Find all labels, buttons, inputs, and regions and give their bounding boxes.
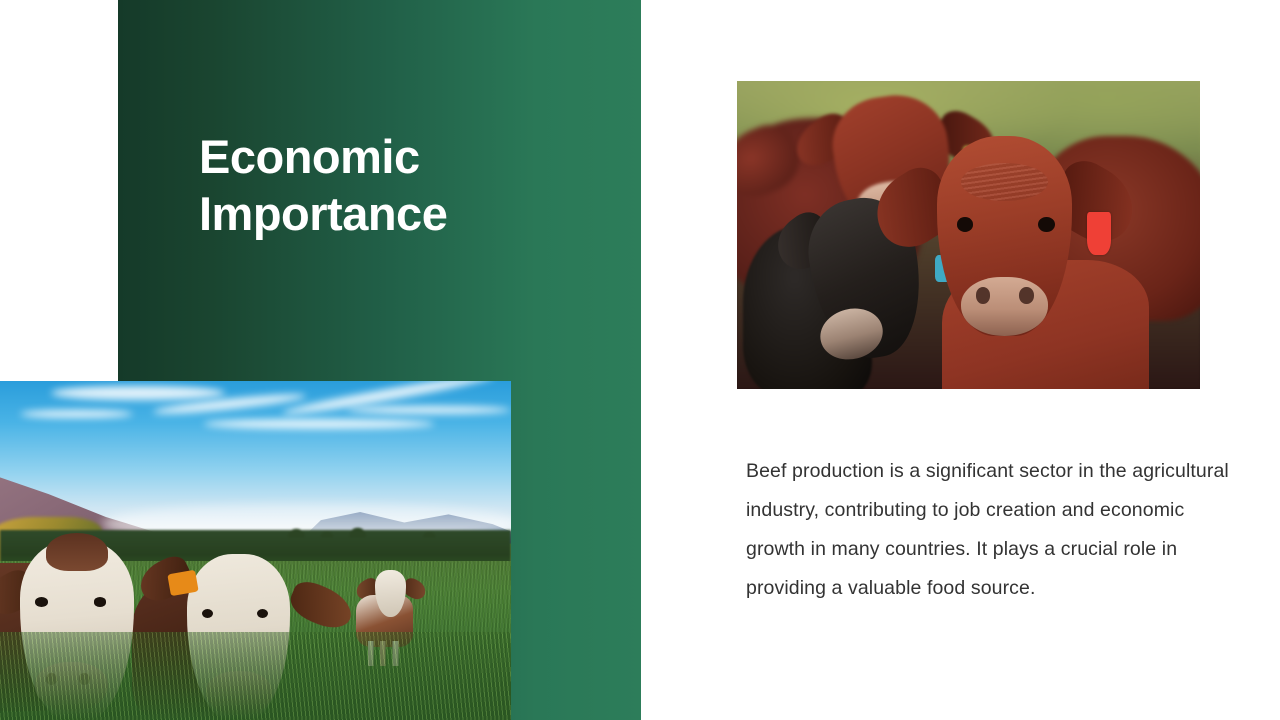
herd-photo [737,81,1200,389]
body-paragraph: Beef production is a significant sector … [746,452,1230,608]
title-line-1: Economic [199,128,629,185]
eye-left [35,597,48,606]
cloud [347,406,511,414]
title-line-2: Importance [199,185,629,242]
foreground-grass [0,632,511,720]
poll [46,533,109,571]
red-ear-tag [1087,212,1111,255]
cloud [51,386,225,400]
foreground-red-cow [904,130,1145,389]
eye-left [957,217,974,232]
slide-canvas: Economic Importance [0,0,1280,720]
cloud [204,419,434,429]
cloud [20,410,132,418]
forehead [961,163,1048,201]
muzzle [961,277,1048,337]
nostril-left [976,287,990,303]
page-title: Economic Importance [199,128,629,242]
eye-right [94,597,107,606]
nostril-right [1019,287,1033,303]
pasture-photo [0,381,511,720]
ear [737,117,808,206]
